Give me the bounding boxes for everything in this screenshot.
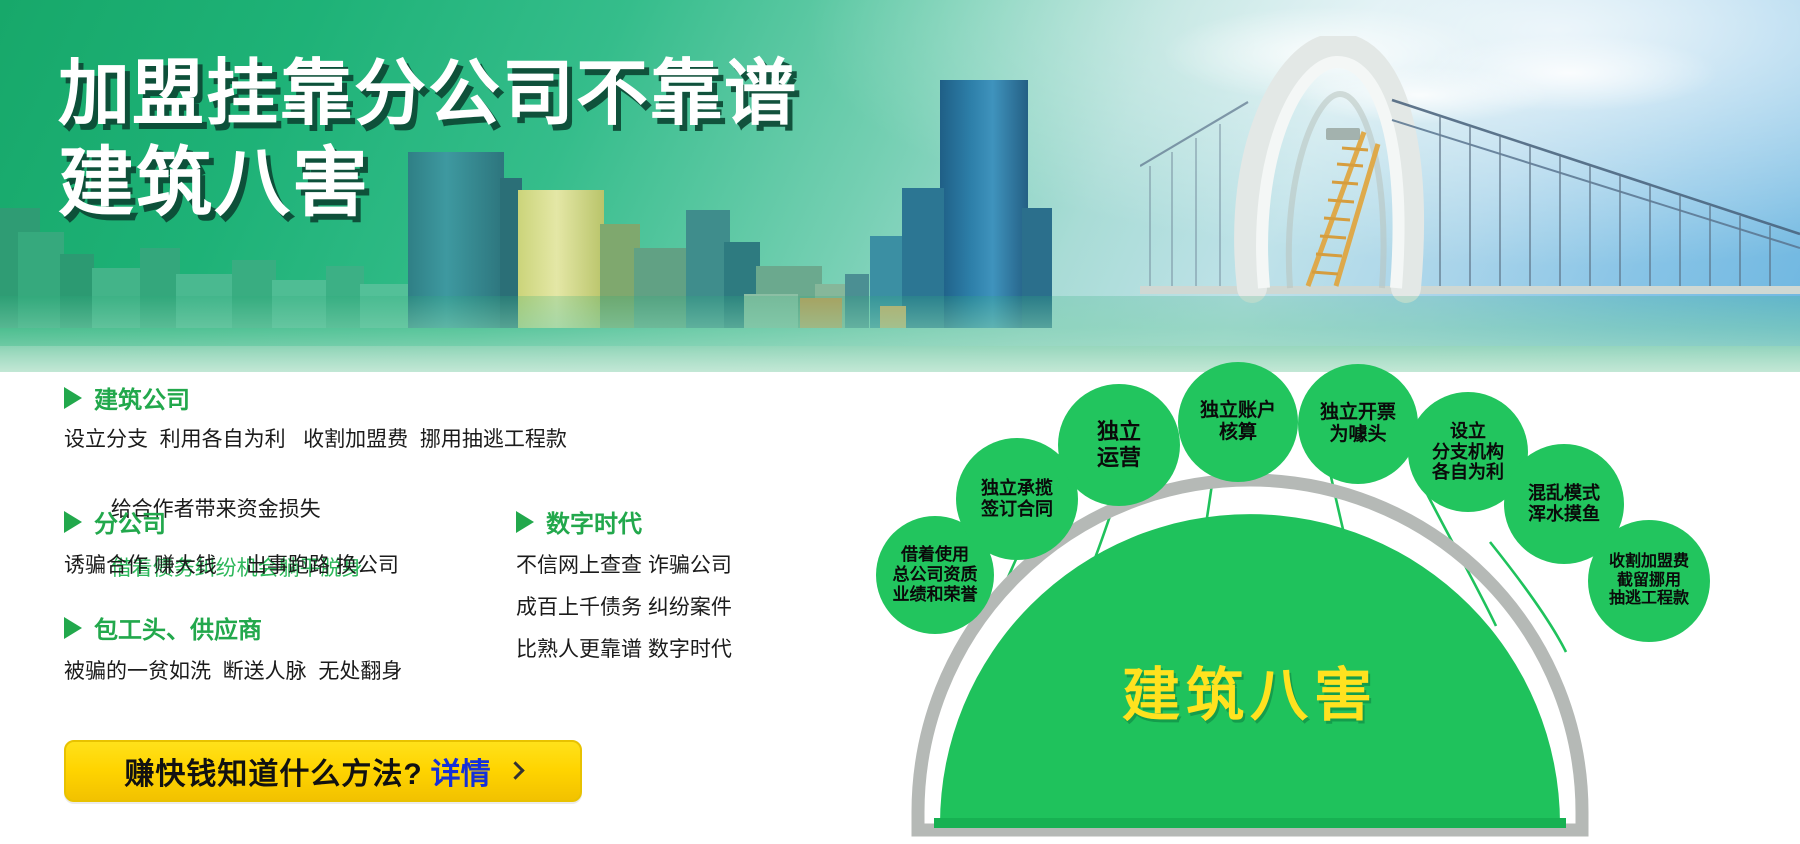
section-company-line-1: 设立分支 利用各自为利 收割加盟费 挪用抽逃工程款 (64, 425, 567, 455)
section-digital-heading: 数字时代 (516, 504, 732, 539)
dome-base (934, 818, 1566, 828)
dome-center-label: 建筑八害 (900, 648, 1600, 732)
hero-headline: 加盟挂靠分公司不靠谱 建筑八害 (58, 58, 798, 223)
cta-detail-link[interactable]: 详情 (431, 749, 491, 793)
section-digital-line-3: 比熟人更靠谱 数字时代 (516, 635, 732, 665)
section-branch-line-1: 诱骗合作 赚大钱 出事跑路 换公司 (64, 551, 399, 581)
triangle-right-icon (516, 511, 534, 533)
hero-banner: 加盟挂靠分公司不靠谱 建筑八害 (0, 0, 1800, 372)
page-root: 加盟挂靠分公司不靠谱 建筑八害 建筑公司 设立分支 利用各自为利 收割加盟费 挪… (0, 0, 1800, 844)
section-contractor-line-1: 被骗的一贫如洗 断送人脉 无处翻身 (64, 657, 402, 687)
cta-main-label: 赚快钱知道什么方法? (124, 749, 422, 793)
section-contractor: 包工头、供应商 被骗的一贫如洗 断送人脉 无处翻身 (64, 610, 402, 687)
section-branch-heading: 分公司 (64, 504, 399, 539)
section-digital-title: 数字时代 (546, 504, 642, 539)
section-company-heading: 建筑公司 (64, 380, 567, 415)
triangle-right-icon (64, 387, 82, 409)
bridge-illustration (1140, 36, 1800, 328)
bubble-independent-account[interactable]: 独立账户 核算 (1178, 362, 1298, 482)
headline-line-2: 建筑八害 (58, 145, 798, 223)
bubble-independent-invoice[interactable]: 独立开票 为噱头 (1298, 364, 1418, 484)
triangle-right-icon (64, 511, 82, 533)
cta-button[interactable]: 赚快钱知道什么方法? 详情 (64, 740, 582, 802)
section-digital: 数字时代 不信网上查查 诈骗公司 成百上千债务 纠纷案件 比熟人更靠谱 数字时代 (516, 504, 732, 664)
diagram-panel: 借着使用 总公司资质 业绩和荣誉 独立承揽 签订合同 独立 运营 独立账户 核算… (900, 372, 1800, 844)
section-contractor-title: 包工头、供应商 (94, 610, 262, 645)
headline-line-1: 加盟挂靠分公司不靠谱 (58, 58, 798, 131)
section-branch-title: 分公司 (94, 504, 166, 539)
section-contractor-heading: 包工头、供应商 (64, 610, 402, 645)
ground-strip-lower (0, 346, 1800, 372)
triangle-right-icon (64, 617, 82, 639)
bubble-harvest-fee[interactable]: 收割加盟费 截留挪用 抽逃工程款 (1588, 520, 1710, 642)
left-content-panel: 建筑公司 设立分支 利用各自为利 收割加盟费 挪用抽逃工程款 给合作者带来资金损… (0, 372, 900, 844)
chevron-right-icon (506, 761, 524, 779)
bubble-independent-operation[interactable]: 独立 运营 (1058, 384, 1180, 506)
section-company-title: 建筑公司 (94, 380, 190, 415)
section-digital-line-2: 成百上千债务 纠纷案件 (516, 593, 732, 623)
skyline-tower-tall (940, 80, 1028, 328)
section-digital-line-1: 不信网上查查 诈骗公司 (516, 551, 732, 581)
section-branch: 分公司 诱骗合作 赚大钱 出事跑路 换公司 (64, 504, 399, 581)
